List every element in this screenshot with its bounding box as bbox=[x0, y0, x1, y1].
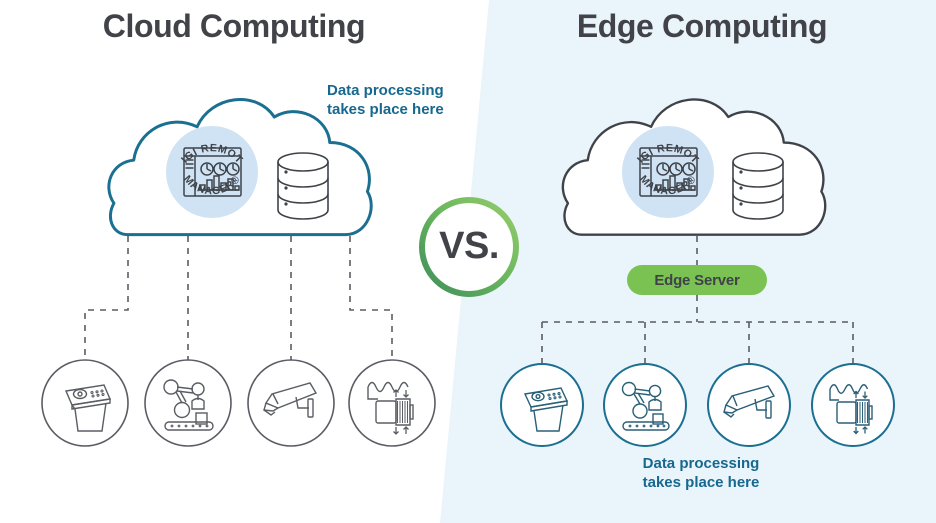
vs-badge: VS. bbox=[416, 194, 522, 300]
annotation-cloud-line2: takes place here bbox=[327, 101, 477, 120]
vs-badge-label: VS. bbox=[416, 194, 522, 300]
device-group-left bbox=[42, 360, 435, 446]
annotation-edge-line1: Data processing bbox=[606, 455, 796, 474]
device-right-hvac[interactable] bbox=[812, 364, 894, 446]
device-right-security-camera[interactable] bbox=[708, 364, 790, 446]
page-title-edge: Edge Computing bbox=[468, 8, 936, 45]
device-circle bbox=[812, 364, 894, 446]
device-right-robotic-arm[interactable] bbox=[604, 364, 686, 446]
device-circle bbox=[604, 364, 686, 446]
device-left-kiosk[interactable] bbox=[42, 360, 128, 446]
annotation-edge: Data processing takes place here bbox=[606, 455, 796, 493]
page-title-cloud: Cloud Computing bbox=[0, 8, 468, 45]
device-group-right bbox=[501, 364, 894, 446]
infographic-canvas: DIGI REMOTE MANAGER® bbox=[0, 0, 936, 523]
annotation-cloud-line1: Data processing bbox=[327, 82, 477, 101]
device-left-hvac[interactable] bbox=[349, 360, 435, 446]
annotation-cloud: Data processing takes place here bbox=[327, 82, 477, 120]
annotation-edge-line2: takes place here bbox=[606, 474, 796, 493]
device-left-robotic-arm[interactable] bbox=[145, 360, 231, 446]
device-circle bbox=[145, 360, 231, 446]
device-circle bbox=[349, 360, 435, 446]
edge-server-badge[interactable]: Edge Server bbox=[627, 265, 767, 295]
device-left-security-camera[interactable] bbox=[248, 360, 334, 446]
device-right-kiosk[interactable] bbox=[501, 364, 583, 446]
